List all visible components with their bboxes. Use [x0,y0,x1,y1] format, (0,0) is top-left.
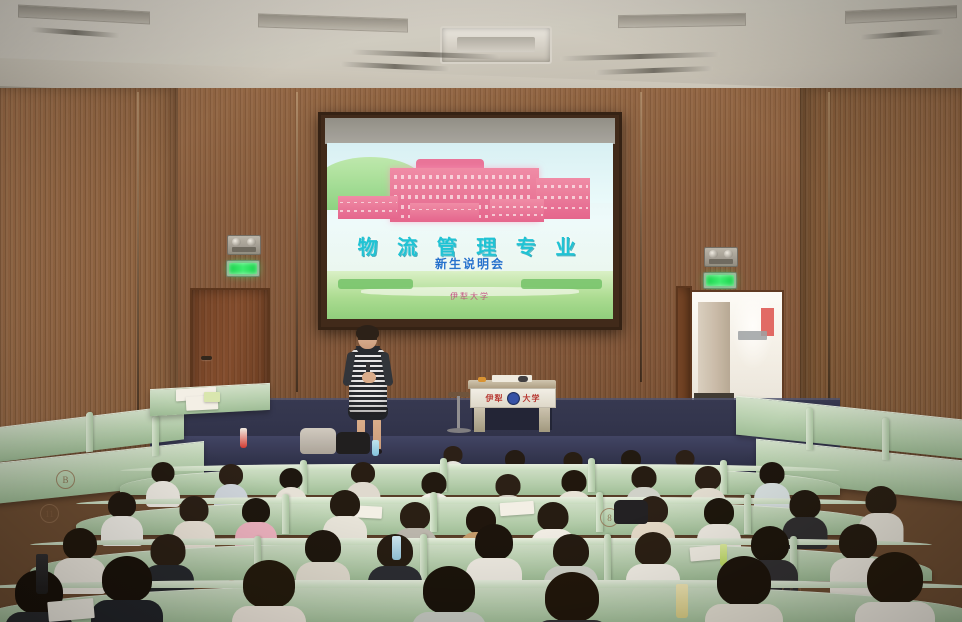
audience-person-foreground [712,556,776,622]
papers-on-desk [204,392,220,402]
seat-divider [806,408,813,451]
exit-sign-left [226,260,260,277]
podium-microphone [518,376,528,382]
seat-number: 11 [40,504,59,523]
hallway-sign [738,331,767,340]
papers-on-desk [500,501,535,516]
podium-leg [474,406,485,432]
slide-hedge [521,279,601,290]
water-bottle [392,536,401,560]
hallway-pillar [698,302,731,398]
audience-person-foreground [96,556,158,622]
presenter-hair [356,325,379,340]
slide-building-front-right [490,199,544,222]
podium-text-left: 伊犁 [486,393,504,404]
podium-leg [539,406,550,432]
water-bottle [676,584,688,618]
exit-sign-right [703,272,737,289]
lecture-hall-photo: 物 流 管 理 专 业 新生说明会 伊犁大学 伊犁 [0,0,962,622]
backpack [614,500,648,524]
backpack [336,432,370,454]
slide-subtitle: 新生说明会 [327,255,613,272]
slide-surface: 物 流 管 理 专 业 新生说明会 伊犁大学 [327,143,613,319]
papers-on-desk [47,598,95,622]
slide-hedge [338,279,412,290]
slide-footer-logo: 伊犁大学 [327,291,613,302]
wall-seam [137,92,139,422]
ceiling-vent [618,13,746,28]
slide-building-left [338,196,398,219]
university-seal-icon [507,392,520,405]
slide-building-front-left [410,203,479,222]
water-bottle [240,428,247,448]
seat-number: B [56,470,75,489]
exit-sign-glow [706,275,734,286]
stool-post [457,396,460,430]
wall-seam [640,92,642,382]
stool-base [447,428,471,433]
door-handle-icon[interactable] [201,356,212,360]
seat-divider [152,416,159,457]
wall-seam [828,92,830,412]
seat-divider [86,412,93,453]
water-bottle [372,440,379,456]
presenter-hands [362,372,376,383]
podium[interactable]: 伊犁 大学 [468,380,556,432]
podium-text-right: 大学 [523,393,541,404]
projection-screen: 物 流 管 理 专 业 新生说明会 伊犁大学 [318,112,622,330]
seat-divider [604,534,611,580]
podium-object [478,377,486,382]
audience-person [148,462,178,502]
screen-roller-shade [325,118,615,144]
exit-sign-glow [229,263,257,274]
handbag [300,428,336,454]
wall-seam [296,92,298,392]
audience-person-foreground [238,560,300,622]
thermos-bottle [36,554,48,594]
audience-person [104,492,140,540]
audience-person-foreground [862,552,928,622]
audience-person-foreground [540,572,604,622]
podium-nameplate: 伊犁 大学 [470,388,556,408]
seat-divider [282,494,289,534]
audience-person-foreground [418,566,480,622]
seat-divider [882,418,889,461]
emergency-light [227,235,261,255]
emergency-light [704,247,738,267]
